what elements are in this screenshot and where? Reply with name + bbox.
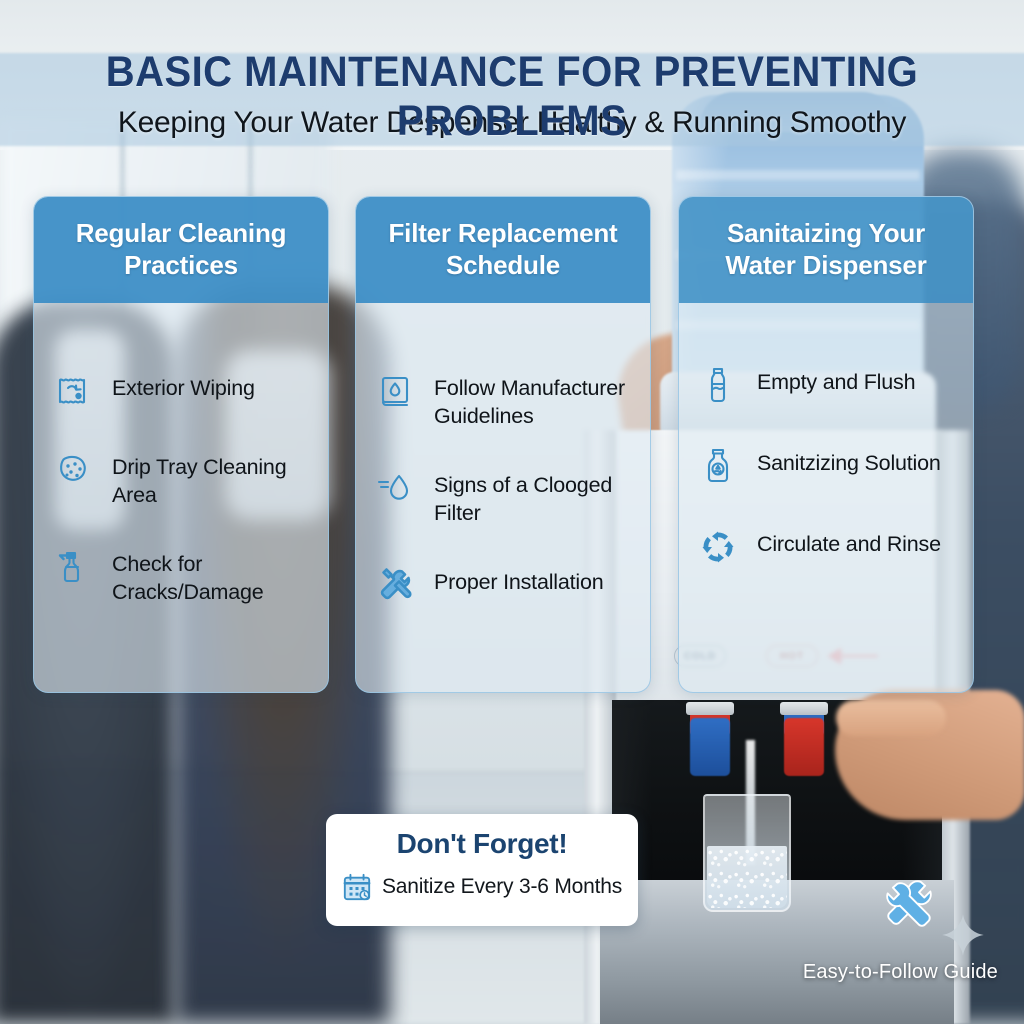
card-2-header: Filter Replacement Schedule <box>356 197 650 303</box>
water-bottle-icon <box>697 364 739 406</box>
crossed-wrenches-icon <box>878 876 940 938</box>
sparkle-star-icon <box>940 912 986 958</box>
list-item-label: Drip Tray Cleaning Area <box>112 452 312 509</box>
chemical-bottle-icon <box>697 445 739 487</box>
page-title: BASIC MAINTENANCE FOR PREVENTING PROBLEM… <box>0 46 1024 150</box>
list-item[interactable]: Proper Installation <box>374 567 634 606</box>
card-1-title: Regular Cleaning Practices <box>48 218 314 281</box>
list-item[interactable]: Drip Tray Cleaning Area <box>52 452 312 509</box>
page-title-text: BASIC MAINTENANCE FOR PREVENTING PROBLEM… <box>53 48 972 146</box>
card-1-body: Exterior Wiping Drip Tray Cleaning Area <box>34 303 328 606</box>
list-item-label: Circulate and Rinse <box>757 529 941 559</box>
card-3-title: Sanitaizing Your Water Dispenser <box>693 218 959 281</box>
list-item[interactable]: Exterior Wiping <box>52 373 312 412</box>
list-item-label: Signs of a Clooged Filter <box>434 470 634 527</box>
manual-book-droplet-icon <box>374 370 416 412</box>
footer-text: Easy-to-Follow Guide <box>803 961 998 984</box>
list-item[interactable]: Follow Manufacturer Guidelines <box>374 373 634 430</box>
list-item-label: Exterior Wiping <box>112 373 255 403</box>
sponge-icon <box>52 449 94 491</box>
list-item[interactable]: Empty and Flush <box>697 367 957 406</box>
callout-title: Don't Forget! <box>397 828 568 860</box>
callout-row: Sanitize Every 3-6 Months <box>342 872 622 902</box>
card-3-header: Sanitaizing Your Water Dispenser <box>679 197 973 303</box>
callout-text: Sanitize Every 3-6 Months <box>382 875 622 899</box>
calendar-icon <box>342 872 372 902</box>
card-2-title: Filter Replacement Schedule <box>370 218 636 281</box>
card-regular-cleaning-practices[interactable]: Regular Cleaning Practices Exterior Wipi… <box>33 196 329 693</box>
card-2-body: Follow Manufacturer Guidelines Signs of … <box>356 303 650 606</box>
list-item-label: Proper Installation <box>434 567 604 597</box>
list-item-label: Empty and Flush <box>757 367 915 397</box>
list-item[interactable]: Check for Cracks/Damage <box>52 549 312 606</box>
card-sanitizing-your-water-dispenser[interactable]: Sanitaizing Your Water Dispenser Empty a… <box>678 196 974 693</box>
recycle-arrows-icon <box>697 526 739 568</box>
card-filter-replacement-schedule[interactable]: Filter Replacement Schedule Follow Manuf… <box>355 196 651 693</box>
spray-bottle-icon <box>52 546 94 588</box>
wrench-screwdriver-icon <box>374 564 416 606</box>
footer-badge: Easy-to-Follow Guide <box>803 961 998 984</box>
list-item[interactable]: Sanitzizing Solution <box>697 448 957 487</box>
water-droplet-filter-icon <box>374 467 416 509</box>
list-item-label: Follow Manufacturer Guidelines <box>434 373 634 430</box>
dont-forget-callout[interactable]: Don't Forget! Sanitize Every 3-6 Months <box>326 814 638 926</box>
card-1-header: Regular Cleaning Practices <box>34 197 328 303</box>
list-item-label: Sanitzizing Solution <box>757 448 941 478</box>
wipe-cloth-icon <box>52 370 94 412</box>
list-item[interactable]: Signs of a Clooged Filter <box>374 470 634 527</box>
list-item-label: Check for Cracks/Damage <box>112 549 312 606</box>
card-3-body: Empty and Flush Sanitzizing Solution <box>679 303 973 568</box>
list-item[interactable]: Circulate and Rinse <box>697 529 957 568</box>
